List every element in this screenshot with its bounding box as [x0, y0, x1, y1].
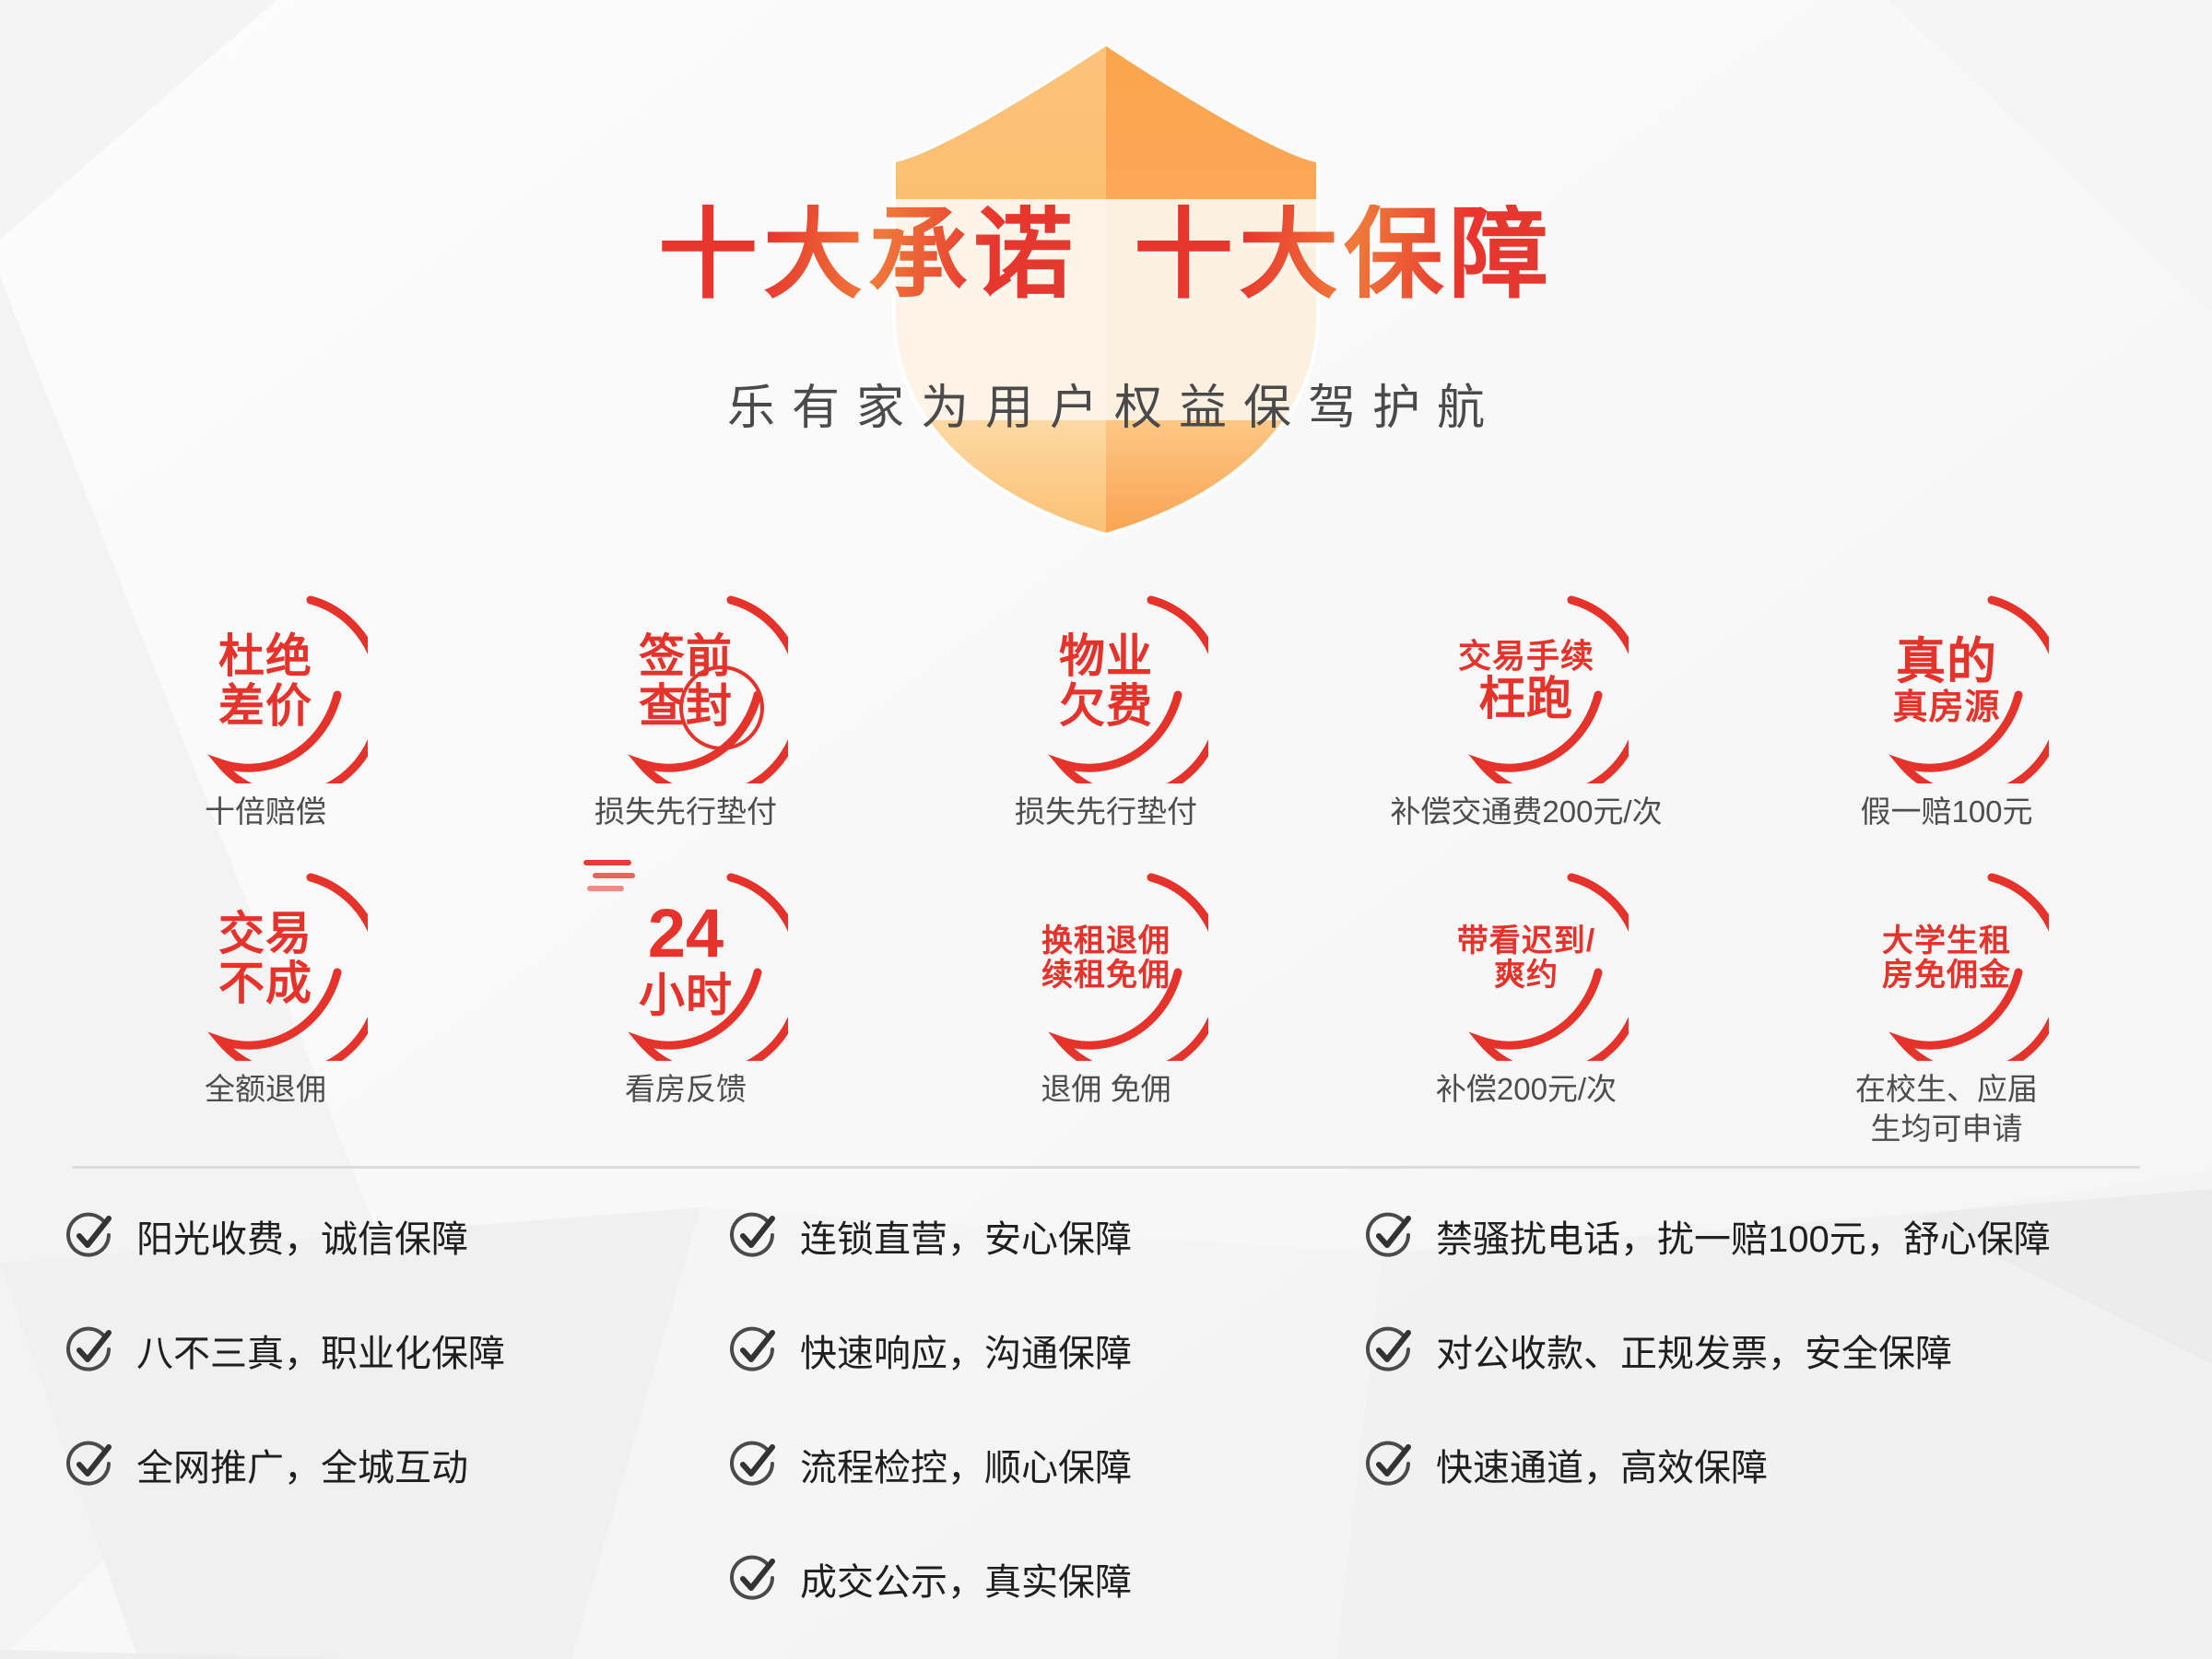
- badge-item: 大学生租 房免佣金 在校生、应届 生均可申请: [1736, 856, 2157, 1149]
- badge-item: 带看迟到/ 爽约 补偿200元/次: [1316, 856, 1736, 1149]
- stamp-circle: 杜绝 差价: [163, 579, 368, 783]
- list-item-label: 禁骚扰电话，扰一赔100元，舒心保障: [1436, 1209, 2051, 1263]
- badge-item: 交易 不成 全额退佣: [55, 856, 476, 1149]
- stamp-circle: 物业 欠费: [1004, 579, 1208, 783]
- seal-circle-icon: [679, 665, 764, 750]
- badge-item: 真的 真房源 假一赔100元: [1736, 579, 2157, 832]
- list-item-label: 全网推广，全城互动: [136, 1438, 468, 1491]
- list-item: 阳光收费，诚信保障: [65, 1209, 728, 1263]
- checklist-column-middle: 连锁直营，安心保障 快速响应，沟通保障 流程检控，顺心保障 成交公示，真实保障: [728, 1209, 1364, 1606]
- stamp-circle: 带看迟到/ 爽约: [1424, 856, 1629, 1061]
- list-item-label: 流程检控，顺心保障: [800, 1438, 1132, 1491]
- stamp-text: 大学生租 房免佣金: [1882, 924, 2011, 992]
- badge-item: 签前 查封 损失先行垫付: [476, 579, 896, 832]
- badge-caption: 补偿200元/次: [1436, 1070, 1617, 1110]
- list-item: 连锁直营，安心保障: [728, 1209, 1364, 1263]
- check-circle-icon: [1364, 1210, 1416, 1262]
- speed-lines-icon: [583, 856, 639, 897]
- badge-caption: 补偿交通费200元/次: [1390, 793, 1662, 832]
- list-item-label: 快速响应，沟通保障: [800, 1324, 1132, 1377]
- title-right: 十大保障: [1134, 205, 1554, 304]
- check-circle-icon: [65, 1324, 116, 1376]
- list-item: 快速通道，高效保障: [1364, 1438, 2212, 1491]
- check-circle-icon: [1364, 1324, 1416, 1376]
- list-item: 成交公示，真实保障: [728, 1552, 1364, 1606]
- stamp-circle: 真的 真房源: [1844, 579, 2049, 783]
- list-item: 对公收款、正规发票，安全保障: [1364, 1324, 2212, 1377]
- list-item-label: 连锁直营，安心保障: [800, 1209, 1132, 1263]
- check-circle-icon: [728, 1210, 780, 1262]
- badge-caption: 看房反馈: [625, 1070, 747, 1110]
- badge-caption: 十倍赔偿: [205, 793, 326, 832]
- badge-item: 交易手续 枉跑 补偿交通费200元/次: [1316, 579, 1736, 832]
- check-circle-icon: [728, 1324, 780, 1376]
- stamp-text: 杜绝 差价: [218, 631, 312, 731]
- title-left: 十大承诺: [658, 205, 1078, 304]
- checklist-section: 阳光收费，诚信保障 八不三真，职业化保障 全网推广，全城互动 连锁直营，安心保障: [0, 1169, 2212, 1606]
- list-item: 全网推广，全城互动: [65, 1438, 728, 1491]
- badge-item: 物业 欠费 损失先行垫付: [896, 579, 1316, 832]
- badge-caption: 全额退佣: [205, 1070, 326, 1110]
- stamp-text: 换租退佣 续租免佣: [1041, 924, 1171, 992]
- checklist-column-right: 禁骚扰电话，扰一赔100元，舒心保障 对公收款、正规发票，安全保障 快速通道，高…: [1364, 1209, 2212, 1606]
- stamp-circle: 大学生租 房免佣金: [1844, 856, 2049, 1061]
- page-subtitle: 乐有家为用户权益保驾护航: [0, 369, 2212, 438]
- badge-caption: 退佣 免佣: [1041, 1070, 1171, 1110]
- list-item-label: 成交公示，真实保障: [800, 1552, 1132, 1606]
- list-item: 流程检控，顺心保障: [728, 1438, 1364, 1491]
- check-circle-icon: [1364, 1439, 1416, 1490]
- page-title: 十大承诺 十大保障: [0, 205, 2212, 304]
- hero-section: 十大承诺 十大保障 乐有家为用户权益保驾护航: [0, 0, 2212, 571]
- badge-grid: 杜绝 差价 十倍赔偿 签前 查封 损失先行垫付 物业 欠费: [0, 571, 2212, 1149]
- badge-item: 换租退佣 续租免佣 退佣 免佣: [896, 856, 1316, 1149]
- badge-caption: 假一赔100元: [1860, 793, 2032, 832]
- list-item-label: 阳光收费，诚信保障: [136, 1209, 468, 1263]
- check-circle-icon: [65, 1439, 116, 1490]
- list-item-label: 八不三真，职业化保障: [136, 1324, 505, 1377]
- stamp-text: 24 小时: [639, 897, 733, 1020]
- stamp-circle: 交易手续 枉跑: [1424, 579, 1629, 783]
- badge-caption: 损失先行垫付: [594, 793, 777, 832]
- list-item-label: 对公收款、正规发票，安全保障: [1436, 1324, 1952, 1377]
- check-circle-icon: [65, 1210, 116, 1262]
- list-item-label: 快速通道，高效保障: [1436, 1438, 1768, 1491]
- stamp-text: 真的 真房源: [1892, 635, 2000, 726]
- stamp-text: 交易手续 枉跑: [1458, 639, 1594, 724]
- badge-caption: 损失先行垫付: [1015, 793, 1197, 832]
- stamp-text: 带看迟到/ 爽约: [1457, 924, 1595, 992]
- list-item: 八不三真，职业化保障: [65, 1324, 728, 1377]
- stamp-circle: 签前 查封: [583, 579, 788, 783]
- badge-item: 24 小时 看房反馈: [476, 856, 896, 1149]
- list-item: 快速响应，沟通保障: [728, 1324, 1364, 1377]
- stamp-circle: 交易 不成: [163, 856, 368, 1061]
- stamp-circle: 24 小时: [583, 856, 788, 1061]
- stamp-text: 物业 欠费: [1059, 631, 1153, 731]
- stamp-circle: 换租退佣 续租免佣: [1004, 856, 1208, 1061]
- list-item: 禁骚扰电话，扰一赔100元，舒心保障: [1364, 1209, 2212, 1263]
- checklist-column-left: 阳光收费，诚信保障 八不三真，职业化保障 全网推广，全城互动: [65, 1209, 728, 1606]
- badge-caption: 在校生、应届 生均可申请: [1855, 1070, 2038, 1149]
- badge-item: 杜绝 差价 十倍赔偿: [55, 579, 476, 832]
- check-circle-icon: [728, 1439, 780, 1490]
- stamp-text: 交易 不成: [218, 909, 312, 1008]
- check-circle-icon: [728, 1553, 780, 1605]
